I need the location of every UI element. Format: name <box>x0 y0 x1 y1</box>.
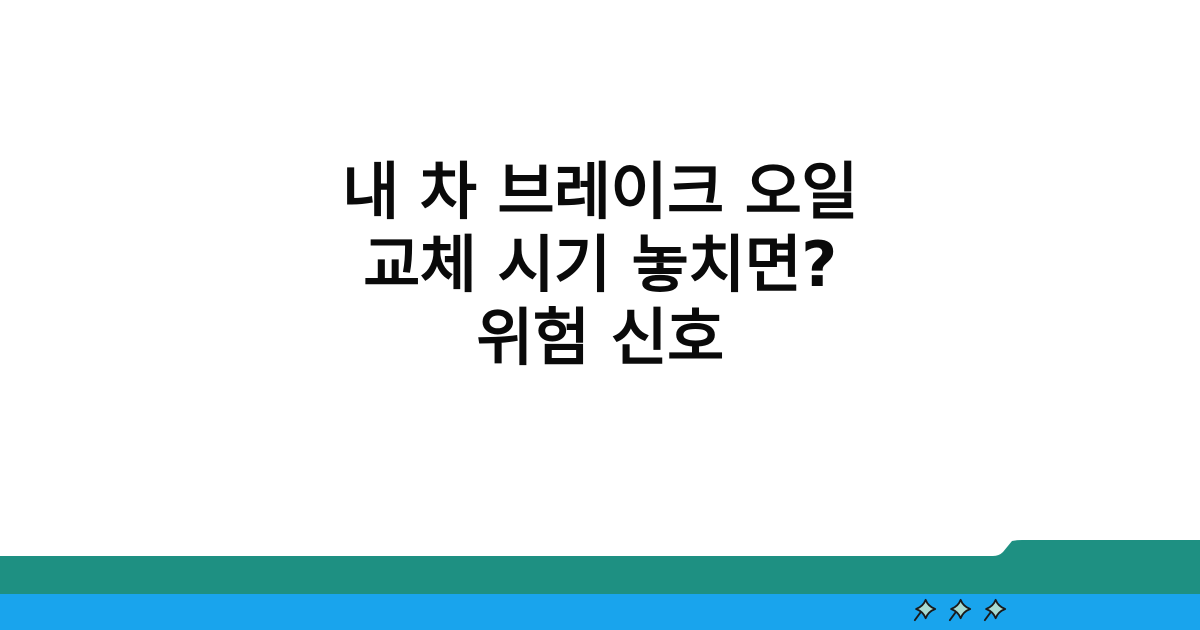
headline-line-3: 위험 신호 <box>342 301 858 374</box>
diamond-sparkle-icon <box>947 597 973 623</box>
headline-block: 내 차 브레이크 오일 교체 시기 놓치면? 위험 신호 <box>0 0 1200 556</box>
thumbnail-canvas: 내 차 브레이크 오일 교체 시기 놓치면? 위험 신호 <box>0 0 1200 630</box>
sparkle-row <box>912 593 1008 627</box>
headline-line-2: 교체 시기 놓치면? <box>342 228 858 301</box>
page-title: 내 차 브레이크 오일 교체 시기 놓치면? 위험 신호 <box>302 155 898 374</box>
diamond-sparkle-icon <box>912 597 938 623</box>
blue-band <box>0 594 1200 630</box>
headline-line-1: 내 차 브레이크 오일 <box>342 155 858 228</box>
diamond-sparkle-icon <box>982 597 1008 623</box>
